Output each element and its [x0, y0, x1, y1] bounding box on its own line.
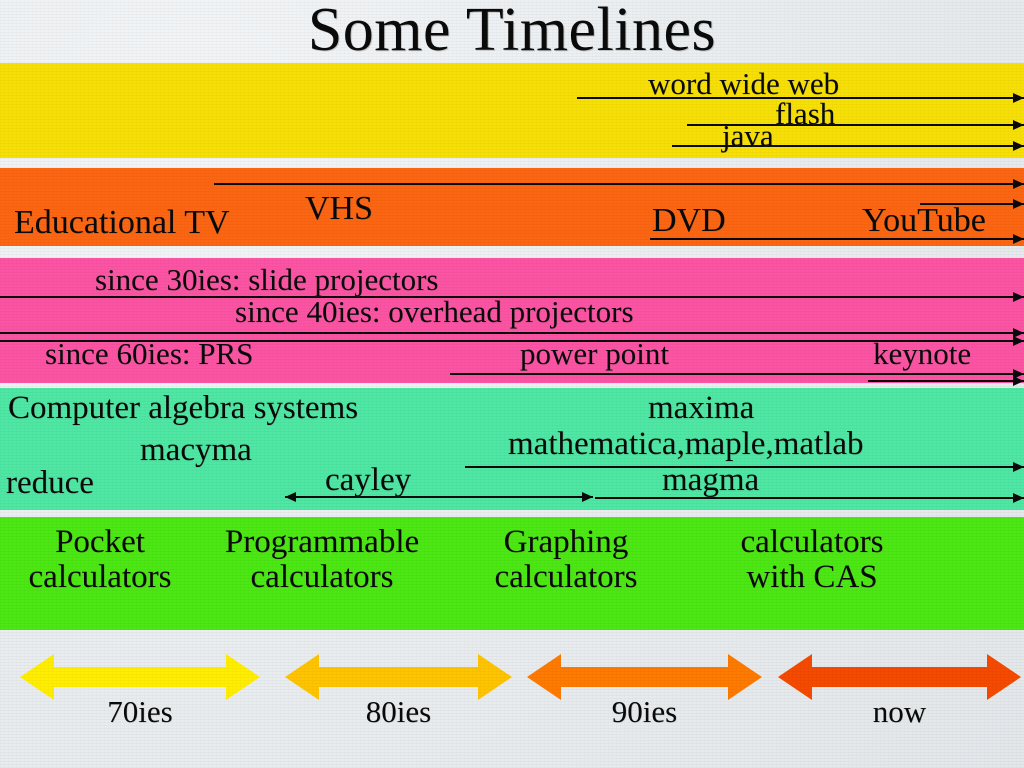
era-timeline: 70ies80ies90iesnow — [0, 646, 1024, 768]
arrow-head-right-icon — [1013, 292, 1024, 302]
era-label-90ies: 90ies — [527, 694, 762, 730]
arrow-head-right-icon — [1013, 336, 1024, 346]
arrow-head-right-icon — [582, 492, 593, 502]
timeline-label: mathematica,maple,matlab — [508, 426, 864, 463]
timeline-label: flash — [775, 96, 835, 132]
arrow-shaft — [868, 380, 1024, 382]
timeline-label: YouTube — [862, 202, 986, 240]
timeline-label: Computer algebra systems — [8, 390, 358, 427]
timeline-label: Pocket calculators — [0, 525, 200, 595]
arrow-head-right-icon — [1013, 141, 1024, 151]
timeline-label: java — [722, 118, 774, 154]
timeline-label: keynote — [873, 336, 971, 372]
arrow-head-right-icon — [1013, 493, 1024, 503]
timeline-label: since 40ies: overhead projectors — [235, 294, 634, 330]
timeline-label: power point — [520, 336, 669, 372]
era-label-70ies: 70ies — [20, 694, 260, 730]
keynote-arrow — [868, 375, 1024, 387]
era-label-80ies: 80ies — [285, 694, 512, 730]
arrow-shaft — [214, 183, 1024, 185]
timeline-label: Programmable calculators — [192, 525, 452, 595]
arrow-shaft — [0, 332, 1024, 334]
page-title: Some Timelines — [0, 0, 1024, 62]
arrow-shaft — [595, 497, 1024, 499]
arrow-head-right-icon — [1013, 462, 1024, 472]
timeline-label: Educational TV — [14, 204, 230, 242]
timeline-label: Graphing calculators — [462, 525, 670, 595]
vhs-arrow — [214, 178, 1024, 190]
arrow-head-right-icon — [1013, 376, 1024, 386]
arrow-head-left-icon — [285, 492, 296, 502]
arrow-head-right-icon — [1013, 179, 1024, 189]
timeline-label: macyma — [140, 432, 252, 469]
arrow-head-right-icon — [1013, 93, 1024, 103]
arrow-head-right-icon — [1013, 199, 1024, 209]
timeline-label: DVD — [652, 202, 726, 240]
timeline-label: magma — [662, 462, 759, 499]
timeline-label: since 60ies: PRS — [45, 336, 253, 372]
timeline-label: maxima — [648, 390, 754, 427]
timeline-label: calculators with CAS — [706, 525, 918, 595]
arrow-head-right-icon — [1013, 234, 1024, 244]
timeline-label: cayley — [325, 462, 411, 499]
timeline-label: VHS — [305, 190, 373, 228]
timeline-label: since 30ies: slide projectors — [95, 262, 439, 298]
timeline-label: reduce — [6, 465, 94, 502]
era-label-now: now — [778, 694, 1021, 730]
arrow-head-right-icon — [1013, 120, 1024, 130]
slide-canvas: Some Timelines 70ies80ies90iesnow word w… — [0, 0, 1024, 768]
magma-arrow — [595, 492, 1024, 504]
